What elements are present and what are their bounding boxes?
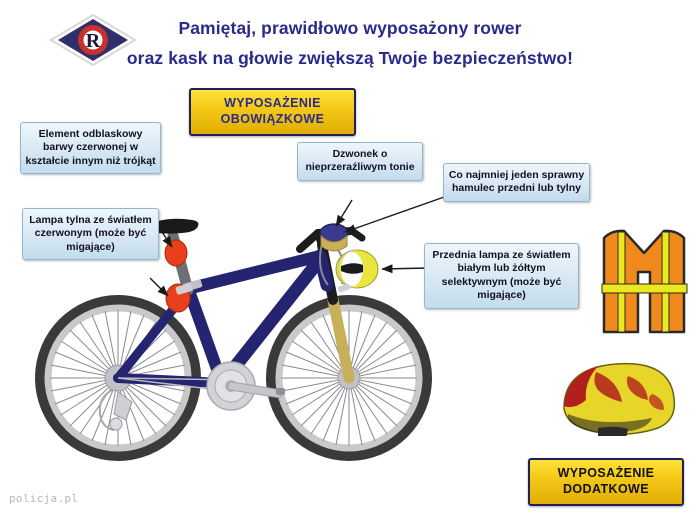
banner-additional-line1: WYPOSAŻENIE [530, 466, 682, 482]
arrow-to-brake [345, 196, 447, 232]
callout-reflector: Element odblaskowy barwy czerwonej w ksz… [20, 122, 161, 174]
banner-additional-line2: DODATKOWE [530, 482, 682, 498]
watermark-policja-pl: policja.pl [9, 492, 78, 505]
bicycle-bell [320, 224, 348, 251]
banner-mandatory-line2: OBOWIĄZKOWE [191, 112, 354, 128]
callout-brake: Co najmniej jeden sprawny hamulec przedn… [443, 163, 590, 202]
callout-rear-lamp: Lampa tylna ze światłem czerwonym (może … [22, 208, 159, 260]
arrow-to-front-lamp [382, 268, 428, 269]
safety-vest-illustration [598, 228, 690, 338]
banner-mandatory-equipment: WYPOSAŻENIE OBOWIĄZKOWE [189, 88, 356, 136]
arrow-to-rear-lamp [150, 278, 168, 296]
banner-additional-equipment: WYPOSAŻENIE DODATKOWE [528, 458, 684, 506]
rear-reflector-upper [165, 240, 187, 266]
banner-mandatory-line1: WYPOSAŻENIE [191, 96, 354, 112]
infographic-canvas: R Pamiętaj, prawidłowo wyposażony rower … [0, 0, 700, 525]
callout-front-lamp: Przednia lampa ze światłem białym lub żó… [424, 243, 579, 309]
bicycle-illustration [0, 0, 700, 525]
front-lamp [336, 250, 378, 293]
callout-bell: Dzwonek o nieprzeraźliwym tonie [297, 142, 423, 181]
helmet-illustration [556, 358, 680, 436]
arrow-to-bell [336, 200, 352, 226]
